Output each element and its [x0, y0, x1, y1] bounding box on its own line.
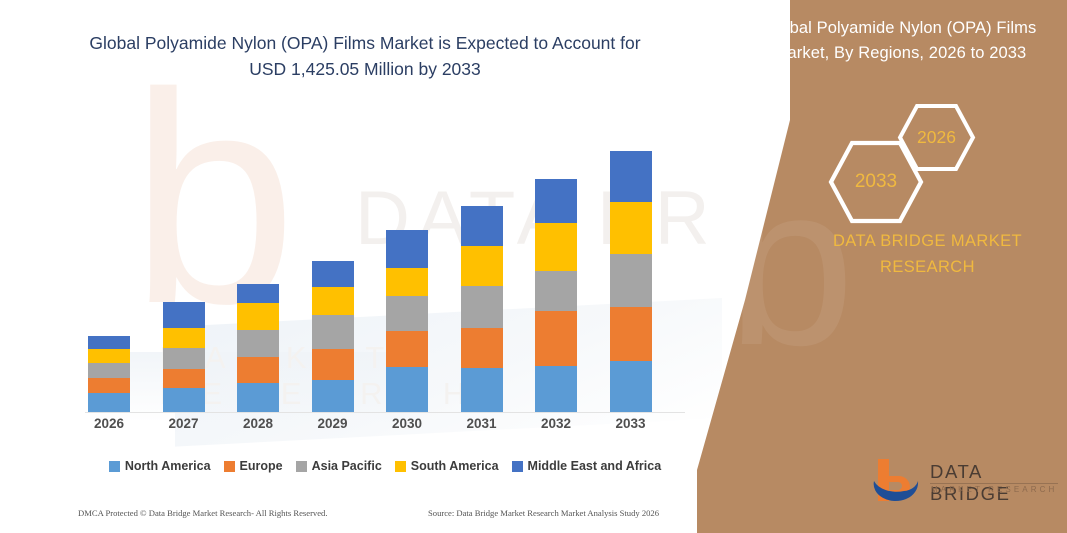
bar-segment: [88, 378, 130, 393]
bar-segment: [610, 361, 652, 412]
bar-2033: [610, 151, 652, 412]
bar-2029: [312, 261, 354, 412]
bar-segment: [535, 271, 577, 312]
bar-segment: [610, 202, 652, 254]
legend-label: North America: [125, 459, 211, 473]
bar-segment: [386, 296, 428, 331]
bar-segment: [386, 268, 428, 297]
legend-swatch-icon: [395, 461, 406, 472]
bar-segment: [610, 254, 652, 308]
legend-label: Asia Pacific: [312, 459, 382, 473]
bar-segment: [88, 336, 130, 349]
bar-segment: [386, 230, 428, 268]
bar-segment: [237, 330, 279, 357]
bar-2030: [386, 230, 428, 412]
legend-swatch-icon: [224, 461, 235, 472]
legend-item-south-america[interactable]: South America: [395, 459, 499, 473]
stacked-bar-chart: 20262027202820292030203120322033: [75, 120, 695, 415]
legend-label: Europe: [240, 459, 283, 473]
page-title: Global Polyamide Nylon (OPA) Films Marke…: [75, 30, 655, 82]
legend-swatch-icon: [296, 461, 307, 472]
bar-segment: [88, 349, 130, 363]
bar-segment: [535, 366, 577, 412]
bar-segment: [535, 223, 577, 271]
bar-segment: [237, 357, 279, 383]
x-axis-label-2027: 2027: [149, 416, 219, 431]
bar-2031: [461, 206, 503, 412]
bar-segment: [163, 328, 205, 348]
hexagon-badge-2026: 2026: [897, 103, 976, 172]
bar-segment: [535, 311, 577, 366]
x-axis-label-2028: 2028: [223, 416, 293, 431]
bar-segment: [237, 383, 279, 412]
x-axis-label-2029: 2029: [298, 416, 368, 431]
bar-2032: [535, 179, 577, 412]
x-axis-label-2026: 2026: [74, 416, 144, 431]
bar-segment: [461, 246, 503, 286]
legend-item-middle-east-and-africa[interactable]: Middle East and Africa: [512, 459, 662, 473]
bar-2028: [237, 284, 279, 412]
legend-item-north-america[interactable]: North America: [109, 459, 211, 473]
bar-segment: [237, 303, 279, 330]
bar-segment: [386, 331, 428, 367]
x-axis-labels: 20262027202820292030203120322033: [75, 416, 695, 440]
bar-segment: [88, 393, 130, 412]
x-axis-label-2030: 2030: [372, 416, 442, 431]
legend-swatch-icon: [512, 461, 523, 472]
bar-segment: [312, 349, 354, 380]
bar-segment: [461, 286, 503, 329]
bar-segment: [386, 367, 428, 412]
bar-segment: [461, 328, 503, 368]
bar-segment: [461, 368, 503, 412]
bar-segment: [312, 315, 354, 349]
bar-2027: [163, 302, 205, 412]
bar-segment: [535, 179, 577, 223]
bar-segment: [610, 307, 652, 361]
bar-segment: [163, 348, 205, 369]
footer-source: Source: Data Bridge Market Research Mark…: [428, 508, 659, 518]
chart-legend: North AmericaEuropeAsia PacificSouth Ame…: [75, 455, 695, 477]
bar-segment: [312, 261, 354, 287]
data-bridge-logo-icon: [872, 457, 924, 503]
bar-segment: [163, 388, 205, 412]
x-axis-line: [85, 412, 685, 413]
bar-segment: [163, 369, 205, 388]
hexagon-badge-2026-label: 2026: [897, 103, 976, 172]
bar-segment: [88, 363, 130, 378]
infographic-page: b DATA BRIDGE MARKET RESEARCH Global Pol…: [0, 0, 1067, 533]
x-axis-label-2032: 2032: [521, 416, 591, 431]
bar-segment: [163, 302, 205, 328]
bar-segment: [312, 380, 354, 412]
x-axis-label-2033: 2033: [596, 416, 666, 431]
bar-segment: [312, 287, 354, 316]
bar-2026: [88, 336, 130, 412]
legend-swatch-icon: [109, 461, 120, 472]
data-bridge-logo-tagline: MARKET RESEARCH: [931, 485, 1057, 494]
legend-label: South America: [411, 459, 499, 473]
bar-segment: [610, 151, 652, 202]
bar-segment: [461, 206, 503, 246]
chart-plot-area: [75, 120, 695, 413]
legend-item-asia-pacific[interactable]: Asia Pacific: [296, 459, 382, 473]
bar-segment: [237, 284, 279, 304]
legend-label: Middle East and Africa: [528, 459, 662, 473]
logo-divider: [930, 483, 1058, 484]
panel-title: Global Polyamide Nylon (OPA) Films Marke…: [745, 16, 1055, 66]
data-bridge-logo: DATA BRIDGE MARKET RESEARCH: [872, 455, 1062, 505]
footer-copyright: DMCA Protected © Data Bridge Market Rese…: [78, 508, 328, 518]
legend-item-europe[interactable]: Europe: [224, 459, 283, 473]
panel-brand-name: DATA BRIDGE MARKET RESEARCH: [790, 228, 1065, 280]
x-axis-label-2031: 2031: [447, 416, 517, 431]
